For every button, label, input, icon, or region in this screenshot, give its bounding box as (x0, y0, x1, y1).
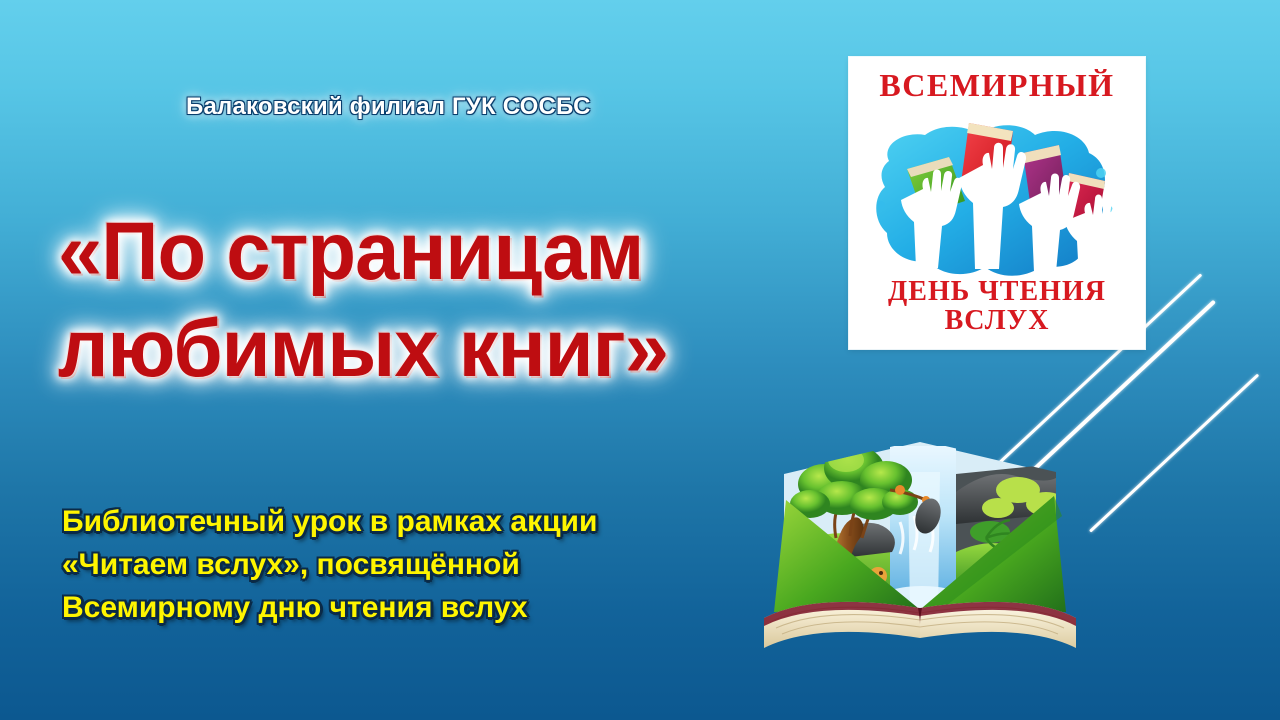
open-book-illustration (750, 412, 1090, 662)
logo-bottom-line-2: ВСЛУХ (849, 306, 1145, 335)
logo-bottom-line-1: ДЕНЬ ЧТЕНИЯ (849, 277, 1145, 306)
caption-line-2: «Читаем вслух», посвящённой (62, 544, 762, 587)
logo-bottom-text: ДЕНЬ ЧТЕНИЯ ВСЛУХ (849, 277, 1145, 335)
page-title-line-2: любимых книг» (58, 301, 776, 398)
logo-top-text: ВСЕМИРНЫЙ (849, 67, 1145, 104)
world-read-aloud-day-logo: ВСЕМИРНЫЙ (849, 57, 1145, 349)
organization-name: Балаковский филиал ГУК СОСБС (186, 93, 591, 121)
caption-line-1: Библиотечный урок в рамках акции (62, 501, 762, 544)
caption-line-3: Всемирному дню чтения вслух (62, 587, 762, 630)
page-title-line-1: «По страницам (58, 206, 643, 297)
streak-line-3 (1089, 374, 1259, 533)
presentation-slide: Балаковский филиал ГУК СОСБС «По страниц… (0, 0, 1280, 720)
page-title: «По страницам любимых книг» (58, 204, 776, 398)
subtitle-caption: Библиотечный урок в рамках акции «Читаем… (62, 501, 762, 630)
hands-with-books-illustration (863, 109, 1131, 299)
